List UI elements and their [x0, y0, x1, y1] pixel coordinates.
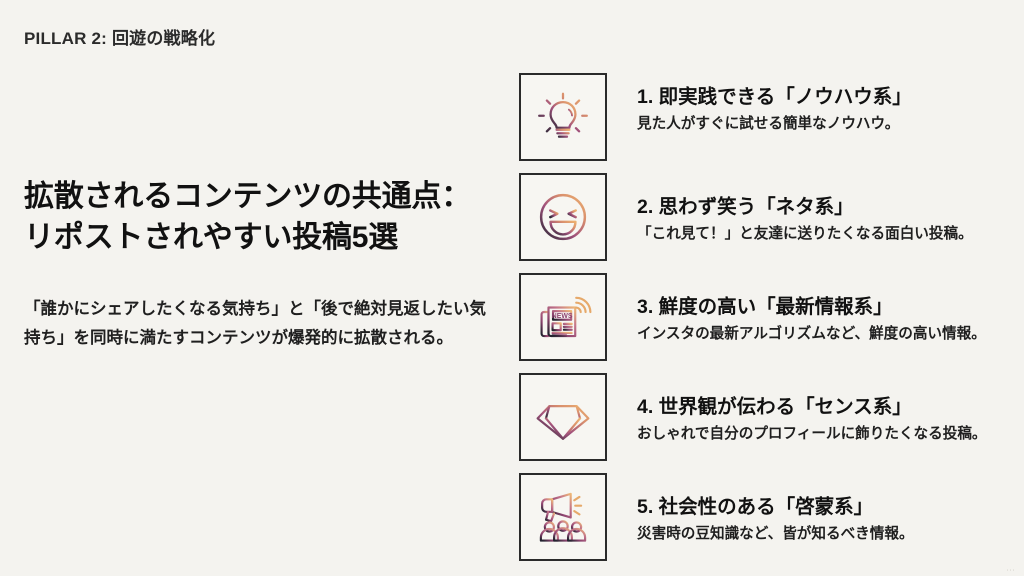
- list-item-title: 5. 社会性のある「啓蒙系」: [637, 496, 914, 519]
- icon-frame: [519, 173, 607, 261]
- content-type-list: 1. 即実践できる「ノウハウ系」 見た人がすぐに試せる簡単なノウハウ。 2. 思…: [519, 73, 1014, 561]
- list-item-desc: インスタの最新アルゴリズムなど、鮮度の高い情報。: [637, 326, 986, 344]
- corner-watermark: ⋯: [1006, 565, 1016, 576]
- list-item-text: 1. 即実践できる「ノウハウ系」 見た人がすぐに試せる簡単なノウハウ。: [637, 73, 912, 134]
- list-item-text: 4. 世界観が伝わる「センス系」 おしゃれで自分のプロフィールに飾りたくなる投稿…: [637, 373, 987, 444]
- list-item-title: 4. 世界観が伝わる「センス系」: [637, 396, 987, 419]
- list-item: 5. 社会性のある「啓蒙系」 災害時の豆知識など、皆が知るべき情報。: [519, 473, 1014, 561]
- list-item: 1. 即実践できる「ノウハウ系」 見た人がすぐに試せる簡単なノウハウ。: [519, 73, 1014, 161]
- icon-frame: [519, 73, 607, 161]
- list-item-text: 3. 鮮度の高い「最新情報系」 インスタの最新アルゴリズムなど、鮮度の高い情報。: [637, 273, 986, 344]
- list-item-title: 2. 思わず笑う「ネタ系」: [637, 196, 973, 219]
- lede-paragraph: 「誰かにシェアしたくなる気持ち」と「後で絶対見返したい気持ち」を同時に満たすコン…: [24, 295, 489, 354]
- page-title: 拡散されるコンテンツの共通点： リポストされやすい投稿5選: [24, 176, 494, 259]
- laughing-face-icon: [535, 189, 591, 245]
- list-item-desc: おしゃれで自分のプロフィールに飾りたくなる投稿。: [637, 426, 987, 444]
- list-item: NEWS 3. 鮮度の高い「最新情報系」 インスタの最新アルゴリズムなど、鮮度の…: [519, 273, 1014, 361]
- megaphone-crowd-icon: [534, 488, 592, 546]
- list-item-desc: 災害時の豆知識など、皆が知るべき情報。: [637, 526, 914, 544]
- list-item-title: 1. 即実践できる「ノウハウ系」: [637, 86, 912, 109]
- pillar-eyebrow: PILLAR 2: 回遊の戦略化: [24, 24, 215, 49]
- news-label: NEWS: [552, 313, 573, 320]
- headline-line-2: リポストされやすい投稿5選: [24, 217, 494, 258]
- icon-frame: [519, 473, 607, 561]
- headline-line-1: 拡散されるコンテンツの共通点：: [24, 176, 494, 217]
- list-item-text: 2. 思わず笑う「ネタ系」 「これ見て！」と友達に送りたくなる面白い投稿。: [637, 173, 973, 244]
- list-item-desc: 「これ見て！」と友達に送りたくなる面白い投稿。: [637, 226, 973, 244]
- list-item: 4. 世界観が伝わる「センス系」 おしゃれで自分のプロフィールに飾りたくなる投稿…: [519, 373, 1014, 461]
- diamond-icon: [534, 388, 592, 446]
- slide-root: PILLAR 2: 回遊の戦略化 拡散されるコンテンツの共通点： リポストされや…: [0, 0, 1024, 576]
- icon-frame: NEWS: [519, 273, 607, 361]
- newspaper-broadcast-icon: NEWS: [534, 288, 592, 346]
- list-item: 2. 思わず笑う「ネタ系」 「これ見て！」と友達に送りたくなる面白い投稿。: [519, 173, 1014, 261]
- list-item-desc: 見た人がすぐに試せる簡単なノウハウ。: [637, 116, 912, 134]
- list-item-text: 5. 社会性のある「啓蒙系」 災害時の豆知識など、皆が知るべき情報。: [637, 473, 914, 544]
- list-item-title: 3. 鮮度の高い「最新情報系」: [637, 296, 986, 319]
- left-column: 拡散されるコンテンツの共通点： リポストされやすい投稿5選 「誰かにシェアしたく…: [24, 176, 494, 354]
- lightbulb-icon: [535, 89, 591, 145]
- icon-frame: [519, 373, 607, 461]
